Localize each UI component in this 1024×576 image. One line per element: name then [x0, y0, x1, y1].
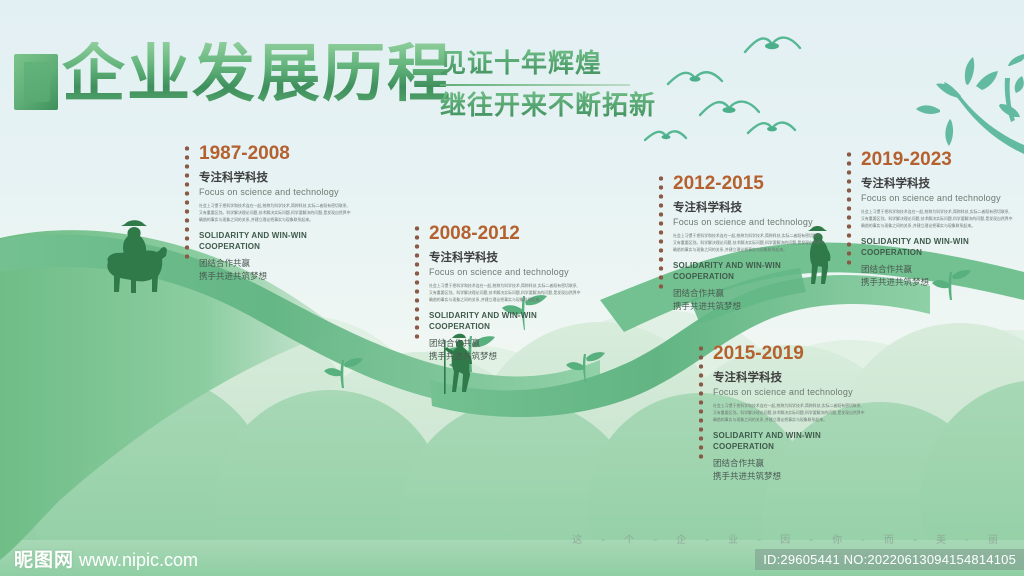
timeline-entry-2012-2015[interactable]: 2012-2015 专注科学科技 Focus on science and te…	[657, 174, 825, 292]
poster-header: 企业发展历程 见证十年辉煌 继往开来不断拓新	[0, 22, 1024, 122]
square-logo-icon	[14, 54, 58, 110]
nipic-brand-url: www.nipic.com	[79, 550, 198, 571]
entry-cn-heading: 专注科学科技	[713, 369, 865, 385]
entry-paragraph: 社会上习惯于把科学和技术连在一起,统称为科学技术,简称科技,实际二者既有密切联系…	[199, 203, 351, 223]
entry-slogan-cn-1: 团结合作共赢	[713, 458, 865, 471]
timeline-entry-1987-2008[interactable]: 1987-2008 专注科学科技 Focus on science and te…	[183, 144, 351, 262]
timeline-entry-2015-2019[interactable]: 2015-2019 专注科学科技 Focus on science and te…	[697, 344, 865, 462]
poster-canvas: 企业发展历程 见证十年辉煌 继往开来不断拓新 1987-2008 专注科学科技 …	[0, 0, 1024, 576]
entry-year: 2012-2015	[673, 174, 825, 195]
entry-slogan-en: SOLIDARITY AND WIN-WIN COOPERATION	[861, 237, 1013, 259]
entry-slogan-cn-1: 团结合作共赢	[861, 264, 1013, 277]
subtitle-line-2: 继往开来不断拓新	[440, 90, 656, 123]
entry-year: 1987-2008	[199, 144, 351, 165]
entry-paragraph: 社会上习惯于把科学和技术连在一起,统称为科学技术,简称科技,实际二者既有密切联系…	[429, 283, 581, 303]
entry-slogan-cn-2: 携手共进共筑梦想	[673, 301, 825, 314]
footer-tagline: 这 - 个 - 企 - 业 - 因 - 你 - 而 - 美 - 丽	[572, 531, 1006, 546]
entry-slogan-en: SOLIDARITY AND WIN-WIN COOPERATION	[713, 431, 865, 453]
timeline-dotted-line	[697, 344, 705, 462]
entry-slogan-en: SOLIDARITY AND WIN-WIN COOPERATION	[673, 261, 825, 283]
subtitle-line-1: 见证十年辉煌	[440, 48, 656, 81]
entry-slogan-cn-2: 携手共进共筑梦想	[199, 271, 351, 284]
entry-slogan-cn-2: 携手共进共筑梦想	[429, 351, 581, 364]
timeline-dotted-line	[845, 150, 853, 268]
timeline-dotted-line	[657, 174, 665, 292]
page-title: 企业发展历程	[62, 42, 452, 105]
entry-cn-heading: 专注科学科技	[199, 169, 351, 185]
entry-paragraph: 社会上习惯于把科学和技术连在一起,统称为科学技术,简称科技,实际二者既有密切联系…	[673, 233, 825, 253]
entry-year: 2019-2023	[861, 150, 1013, 171]
timeline-entry-2008-2012[interactable]: 2008-2012 专注科学科技 Focus on science and te…	[413, 224, 581, 342]
entry-slogan-cn-1: 团结合作共赢	[673, 288, 825, 301]
timeline-entry-2019-2023[interactable]: 2019-2023 专注科学科技 Focus on science and te…	[845, 150, 1013, 268]
entry-paragraph: 社会上习惯于把科学和技术连在一起,统称为科学技术,简称科技,实际二者既有密切联系…	[861, 209, 1013, 229]
entry-paragraph: 社会上习惯于把科学和技术连在一起,统称为科学技术,简称科技,实际二者既有密切联系…	[713, 403, 865, 423]
entry-en-heading: Focus on science and technology	[429, 267, 581, 277]
entry-en-heading: Focus on science and technology	[861, 193, 1013, 203]
entry-cn-heading: 专注科学科技	[429, 249, 581, 265]
horse-rider-silhouette-icon	[107, 220, 167, 293]
entry-cn-heading: 专注科学科技	[673, 199, 825, 215]
entry-slogan-en: SOLIDARITY AND WIN-WIN COOPERATION	[429, 311, 581, 333]
image-id-badge: ID:29605441 NO:20220613094154814105	[755, 549, 1024, 570]
entry-slogan-cn-1: 团结合作共赢	[199, 258, 351, 271]
subtitle-block: 见证十年辉煌 继往开来不断拓新	[440, 48, 656, 122]
entry-slogan-cn-1: 团结合作共赢	[429, 338, 581, 351]
entry-year: 2015-2019	[713, 344, 865, 365]
timeline-dotted-line	[183, 144, 191, 262]
entry-cn-heading: 专注科学科技	[861, 175, 1013, 191]
entry-en-heading: Focus on science and technology	[673, 217, 825, 227]
entry-en-heading: Focus on science and technology	[713, 387, 865, 397]
nipic-brand-cn: 昵图网	[14, 545, 74, 572]
timeline-dotted-line	[413, 224, 421, 342]
nipic-watermark: 昵图网 www.nipic.com	[14, 545, 198, 572]
entry-year: 2008-2012	[429, 224, 581, 245]
entry-slogan-cn-2: 携手共进共筑梦想	[861, 277, 1013, 290]
entry-slogan-cn-2: 携手共进共筑梦想	[713, 471, 865, 484]
subtitle-divider	[440, 84, 630, 86]
entry-en-heading: Focus on science and technology	[199, 187, 351, 197]
entry-slogan-en: SOLIDARITY AND WIN-WIN COOPERATION	[199, 231, 351, 253]
